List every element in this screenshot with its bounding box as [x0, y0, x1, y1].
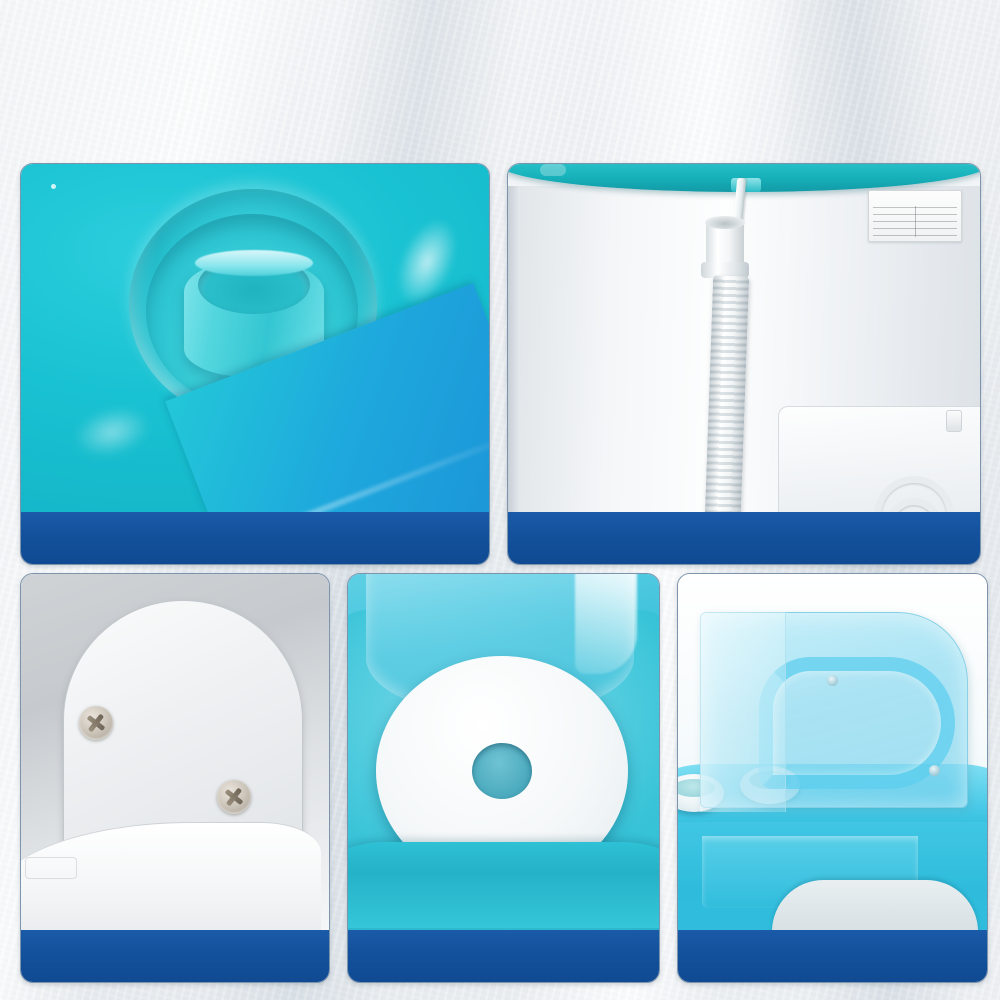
spin-tub-rim — [348, 842, 659, 928]
photo-visible-cover — [678, 574, 987, 932]
filter-screw-lower — [217, 780, 251, 814]
cover-glass-pane — [700, 612, 786, 812]
infographic-page — [0, 0, 1000, 1000]
header — [0, 0, 1000, 152]
spec-label — [868, 190, 962, 242]
photo-filter — [21, 574, 329, 932]
caption-filter — [21, 930, 329, 982]
card-spin-dryer-cover[interactable] — [347, 573, 660, 983]
surface-speck — [51, 184, 56, 189]
tub-inner-plate — [772, 880, 978, 932]
caption-spin-dryer-cover — [348, 930, 659, 982]
spec-label-divider — [915, 206, 916, 237]
card-visible-cover[interactable] — [677, 573, 988, 983]
cover-screw-upper — [827, 675, 838, 686]
highlight-left — [68, 399, 156, 466]
photo-water-inlet — [21, 164, 489, 514]
photo-drainage-hose — [508, 164, 980, 514]
caption-drainage-hose — [508, 512, 980, 564]
cord-plug — [946, 410, 962, 432]
washer-lower-body — [21, 822, 321, 932]
lid-highlight — [575, 574, 637, 674]
lid-tab — [540, 164, 566, 176]
caption-visible-cover — [678, 930, 987, 982]
disc-center-hole — [472, 743, 532, 799]
photo-spin-dryer-cover — [348, 574, 659, 932]
filter-screw-upper — [79, 706, 113, 740]
caption-water-inlet — [21, 512, 489, 564]
inlet-tube-rim — [195, 250, 313, 276]
card-drainage-hose[interactable] — [507, 163, 981, 565]
card-water-inlet[interactable] — [20, 163, 490, 565]
cover-screw-lower — [929, 765, 940, 776]
card-filter[interactable] — [20, 573, 330, 983]
power-cord — [874, 406, 966, 514]
washer-body-edge — [508, 186, 520, 514]
cover-ridge — [759, 657, 955, 789]
